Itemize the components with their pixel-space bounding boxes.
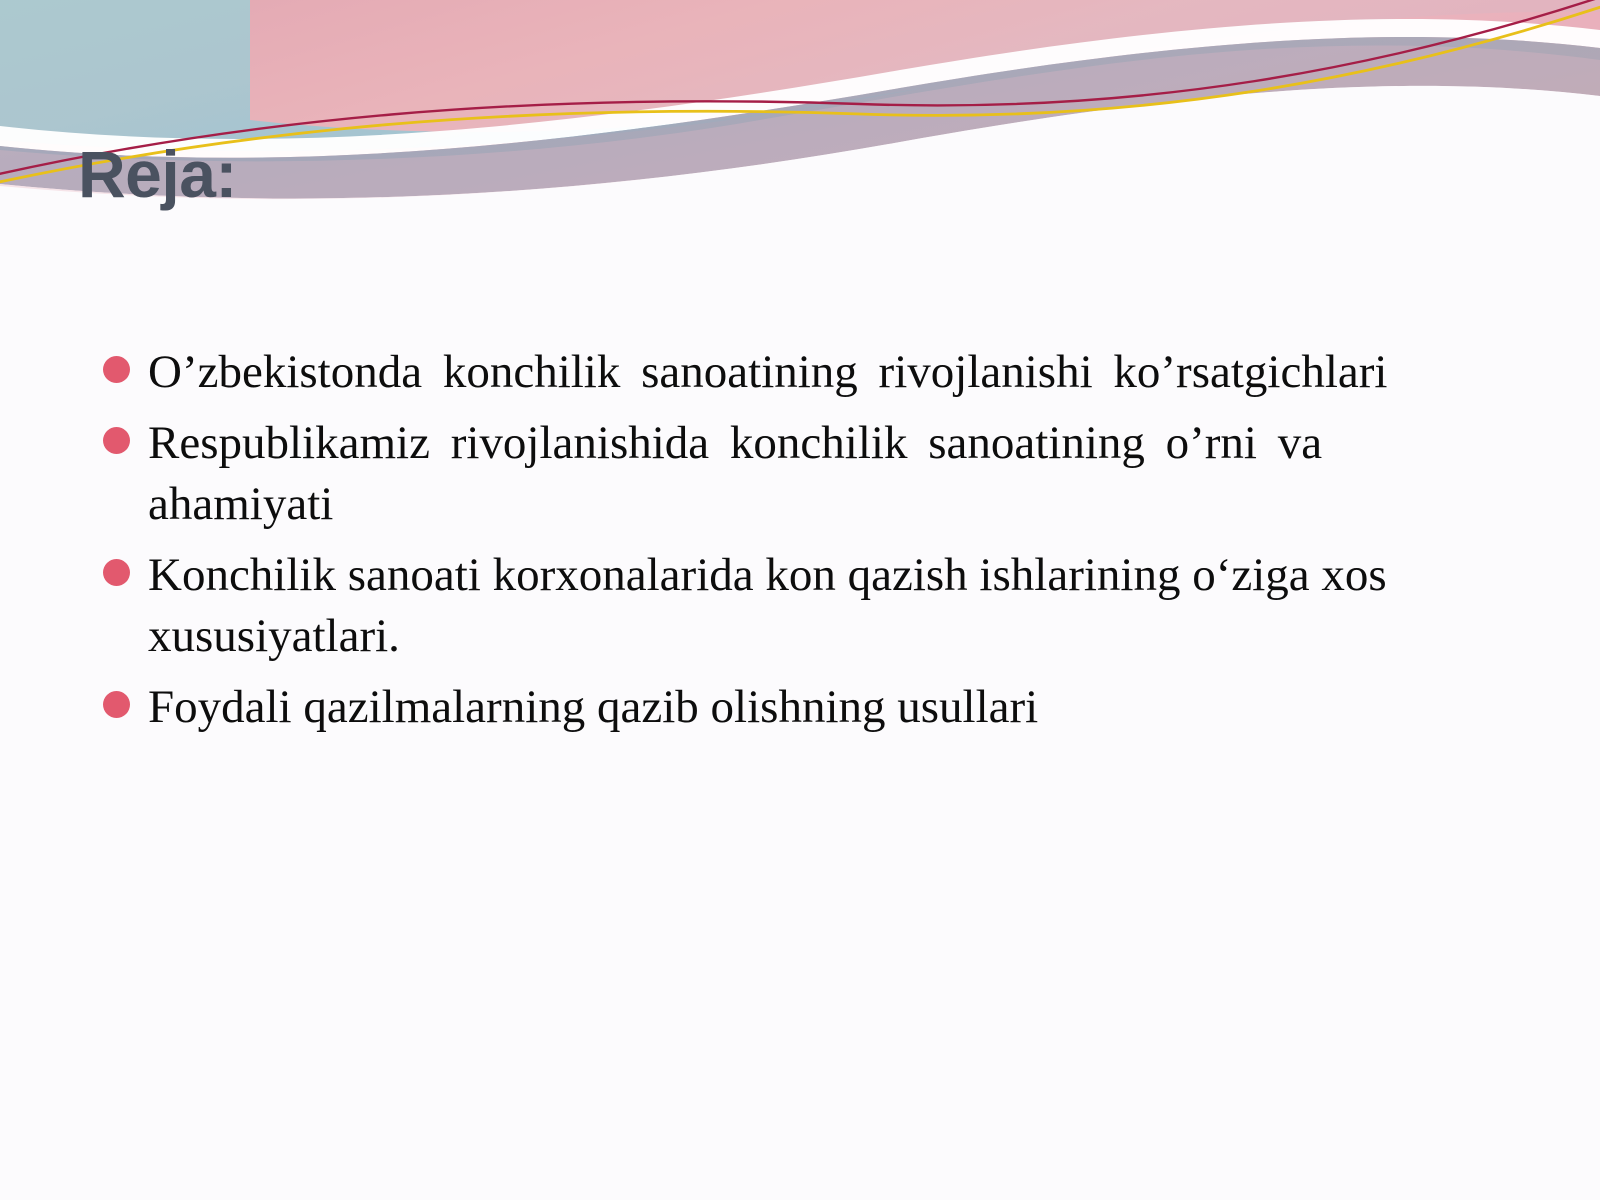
- list-item-label: O’zbekistonda konchilik sanoatining rivo…: [148, 342, 1520, 403]
- list-item: Respublikamiz rivojlanishida konchilik s…: [100, 413, 1520, 535]
- accent-line-yellow: [0, 4, 1600, 184]
- list-item-label: Konchilik sanoati korxonalarida kon qazi…: [148, 545, 1520, 667]
- agenda-list: O’zbekistonda konchilik sanoatining rivo…: [100, 342, 1520, 749]
- bullet-dot-icon: [103, 356, 130, 383]
- wave-band-body-white: [0, 86, 1600, 230]
- bullet-dot-icon: [103, 559, 130, 586]
- list-item: O’zbekistonda konchilik sanoatining rivo…: [100, 342, 1520, 403]
- bullet-dot-icon: [103, 427, 130, 454]
- list-item-label: Foydali qazilmalarning qazib olishning u…: [148, 677, 1520, 738]
- page-title: Reja:: [78, 141, 237, 207]
- list-item: Foydali qazilmalarning qazib olishning u…: [100, 677, 1520, 738]
- accent-line-crimson: [0, 0, 1600, 176]
- list-item-label: Respublikamiz rivojlanishida konchilik s…: [148, 413, 1520, 535]
- wave-band-gray-blue: [0, 37, 1600, 198]
- wave-band-teal: [0, 0, 1600, 151]
- presentation-slide: Reja: O’zbekistonda konchilik sanoatinin…: [0, 0, 1600, 1200]
- wave-stripe-white: [0, 19, 1600, 158]
- wave-band-pink: [250, 0, 1600, 132]
- bullet-dot-icon: [103, 691, 130, 718]
- wave-band-rose: [0, 0, 1600, 161]
- list-item: Konchilik sanoati korxonalarida kon qazi…: [100, 545, 1520, 667]
- wave-band-rose-wash: [0, 45, 1600, 199]
- wave-banner-decoration: [0, 0, 1600, 230]
